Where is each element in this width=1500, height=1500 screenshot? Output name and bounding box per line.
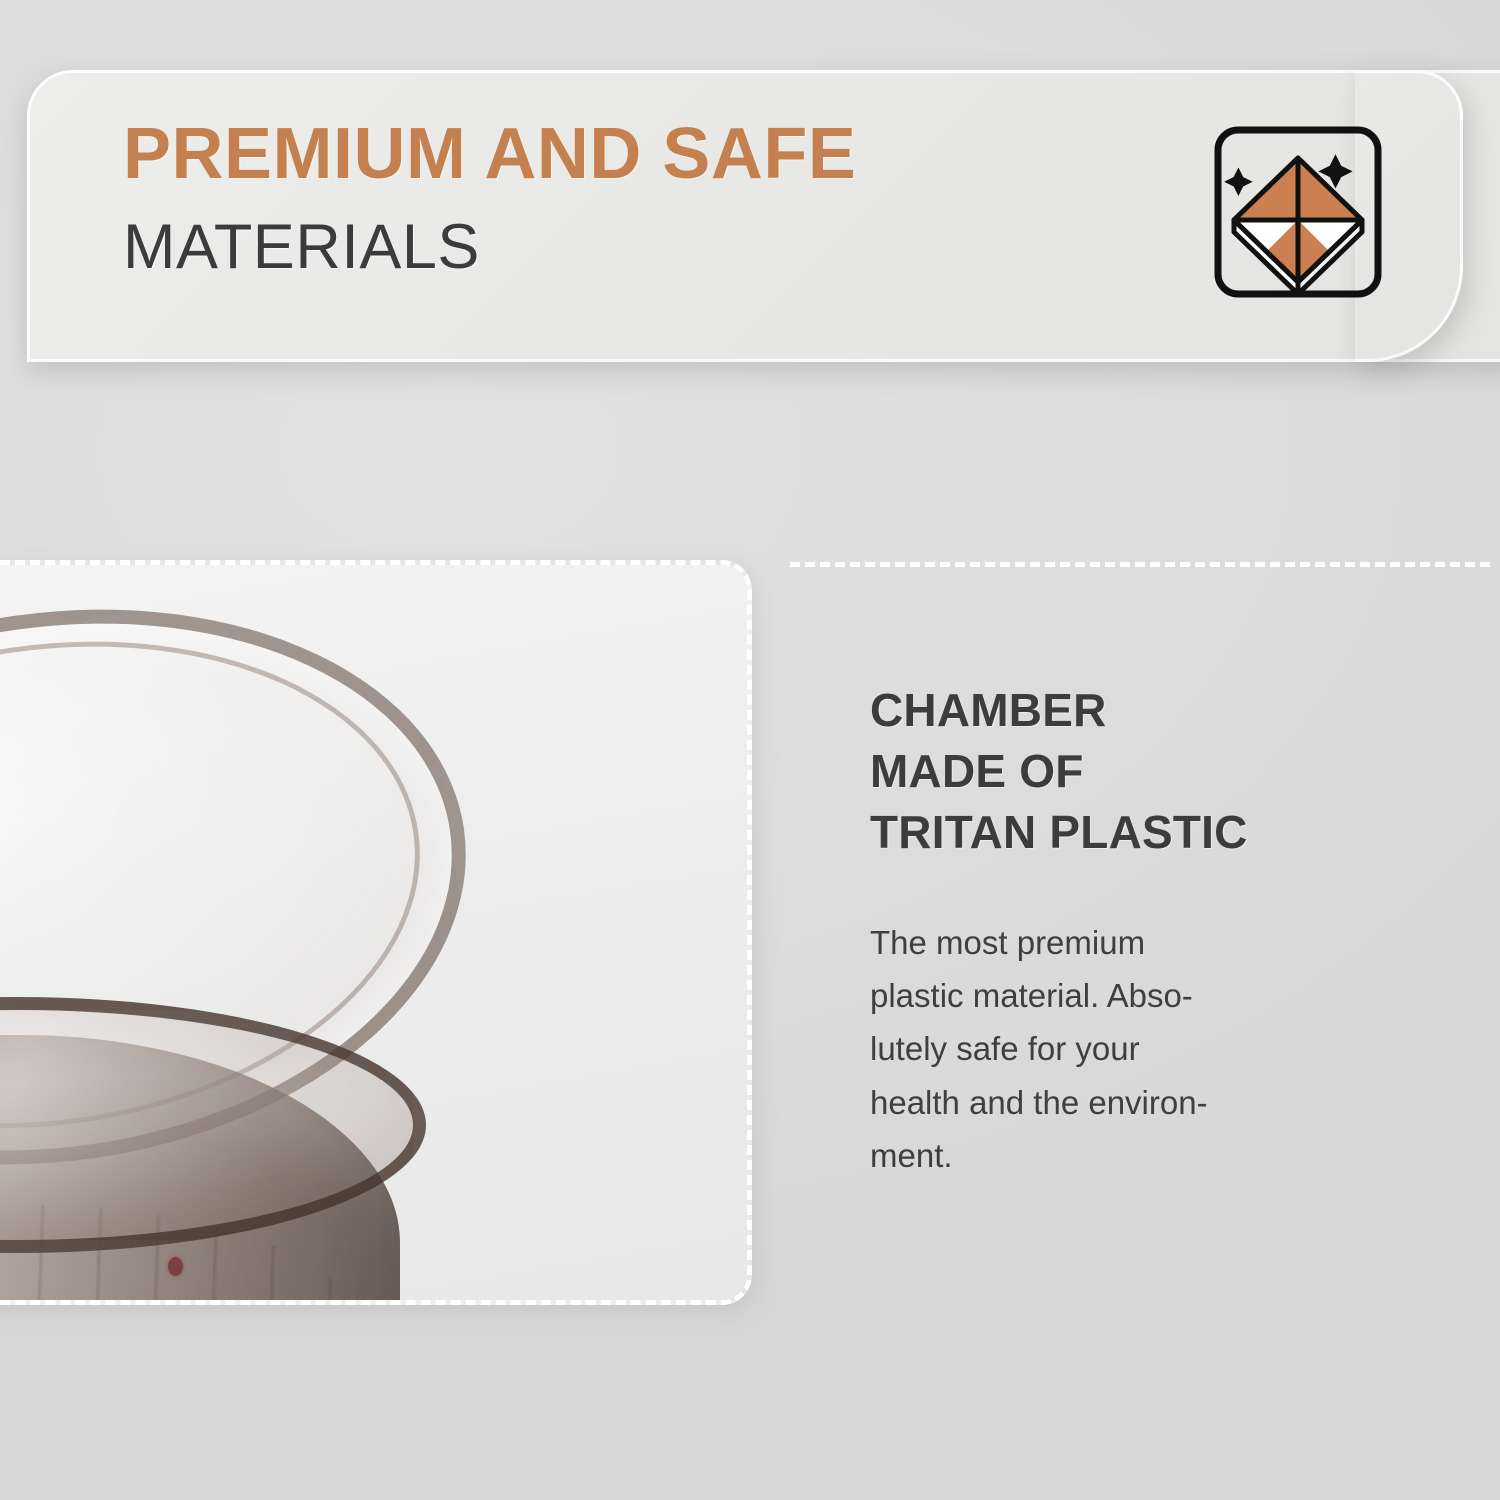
premium-material-tile-icon <box>1212 122 1384 302</box>
feature-body-line-5: ment. <box>870 1137 953 1174</box>
photo-stage: smoothie max~250ml <box>0 565 747 1300</box>
feature-body-line-2: plastic material. Abso- <box>870 977 1193 1014</box>
feature-body-text: The most premium plastic material. Abso-… <box>870 916 1430 1183</box>
dashed-divider <box>790 562 1490 567</box>
page-title-secondary: MATERIALS <box>123 216 1183 279</box>
page-title-accent: PREMIUM AND SAFE <box>123 118 1183 190</box>
feature-heading-line-2: MADE OF <box>870 745 1084 797</box>
feature-heading-line-1: CHAMBER <box>870 684 1107 736</box>
header-title-group: PREMIUM AND SAFE MATERIALS <box>123 118 1183 279</box>
feature-heading: CHAMBER MADE OF TRITAN PLASTIC <box>870 680 1430 864</box>
feature-body-line-4: health and the environ- <box>870 1084 1208 1121</box>
feature-body-line-3: lutely safe for your <box>870 1030 1140 1067</box>
page-background: PREMIUM AND SAFE MATERIALS <box>0 0 1500 1500</box>
tritan-chamber-photo: smoothie max~250ml <box>0 560 752 1305</box>
feature-heading-line-3: TRITAN PLASTIC <box>870 806 1248 858</box>
feature-text-block: CHAMBER MADE OF TRITAN PLASTIC The most … <box>870 680 1430 1183</box>
feature-body-line-1: The most premium <box>870 924 1145 961</box>
